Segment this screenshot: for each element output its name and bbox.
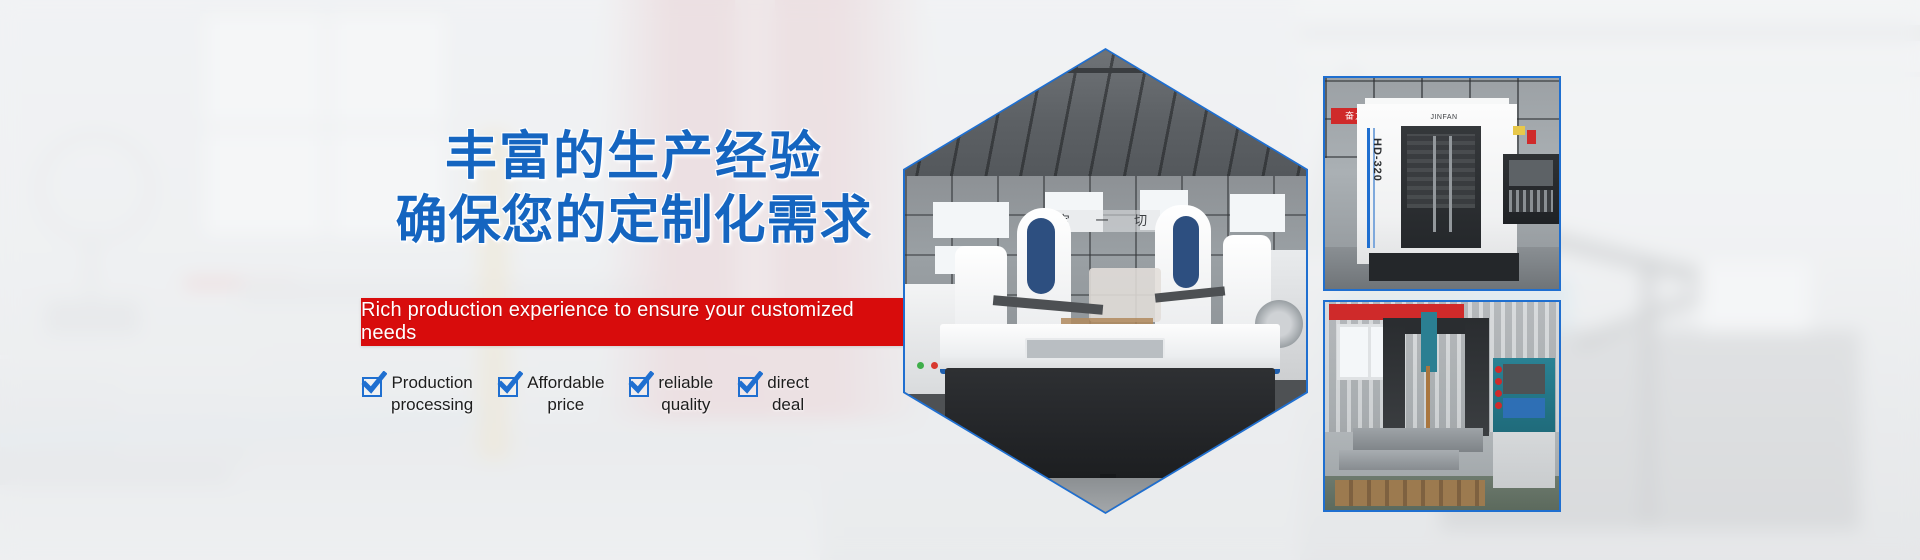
checkbox-checked-icon[interactable] [738,377,758,397]
headline-line-1: 丰富的生产经验 [360,126,908,190]
thumb-door-handle [1433,136,1436,232]
cnc-double-head-machine-photo: 定 一 切 [905,50,1306,512]
feature-label: Affordable price [527,372,604,416]
thumb2-knob [1495,390,1502,397]
subtitle-text: Rich production experience to ensure you… [361,299,904,345]
thumb-door-handle [1449,136,1452,232]
thumb-door-window [1407,134,1475,208]
photo-blue-panel [1027,218,1055,294]
thumb2-machine-table [1353,428,1483,452]
thumb-machine-plinth [1369,253,1519,281]
thumb-control-screen [1509,160,1553,186]
hd-320-machining-center-photo[interactable]: 奋力 HD-320 JINFAN [1323,76,1561,291]
feature-label: reliable quality [658,372,713,416]
photo-red-button [931,362,938,369]
photo-machine-foot [1190,474,1206,486]
photo-bed-window [1025,338,1165,360]
photo-roof-ridge [905,68,1306,73]
photo-machine-base [945,368,1275,480]
checkbox-checked-icon[interactable] [498,377,518,397]
feature-list: Production processing Affordable price r… [362,372,892,422]
thumb2-drill-rod [1426,366,1430,436]
thumb2-gantry-column [1383,324,1405,436]
thumb-brand-mark: JINFAN [1423,114,1465,123]
photo-window [1230,194,1285,232]
thumb2-knob [1495,366,1502,373]
thumb2-control-panel [1503,398,1545,418]
checkbox-checked-icon[interactable] [629,377,649,397]
photo-machine-foot [1010,474,1026,486]
thumb-machine-label: HD-320 [1363,138,1383,184]
banner-headline: 丰富的生产经验 确保您的定制化需求 [360,126,908,254]
feature-item-production-processing[interactable]: Production processing [362,372,473,416]
thumb-red-sticker [1527,130,1536,144]
headline-line-2: 确保您的定制化需求 [360,190,908,254]
thumb2-wood-pallet [1335,480,1485,506]
feature-item-affordable-price[interactable]: Affordable price [498,372,604,416]
thumb2-machine-table-lower [1339,450,1459,470]
thumb2-knob [1495,378,1502,385]
feature-item-direct-deal[interactable]: direct deal [738,372,809,416]
photo-floor [905,478,1306,512]
photo-blue-panel [1173,216,1199,288]
checkbox-checked-icon[interactable] [362,377,382,397]
thumb-warning-sticker [1513,126,1525,135]
photo-shop-sign: 定 一 切 [1055,210,1160,232]
feature-label: direct deal [767,372,809,416]
thumb2-control-screen [1503,364,1545,394]
gantry-drilling-machine-photo[interactable] [1323,300,1561,512]
thumb-control-keypad [1509,190,1553,212]
hexagon-photo-frame[interactable]: 定 一 切 [903,48,1308,514]
photo-green-button [917,362,924,369]
thumb2-gantry-column [1465,320,1489,436]
photo-window [933,202,1009,238]
thumb2-spindle-head [1421,312,1437,372]
feature-item-reliable-quality[interactable]: reliable quality [629,372,713,416]
subtitle-red-bar: Rich production experience to ensure you… [361,298,904,346]
feature-label: Production processing [391,372,473,416]
thumb2-knob [1495,402,1502,409]
